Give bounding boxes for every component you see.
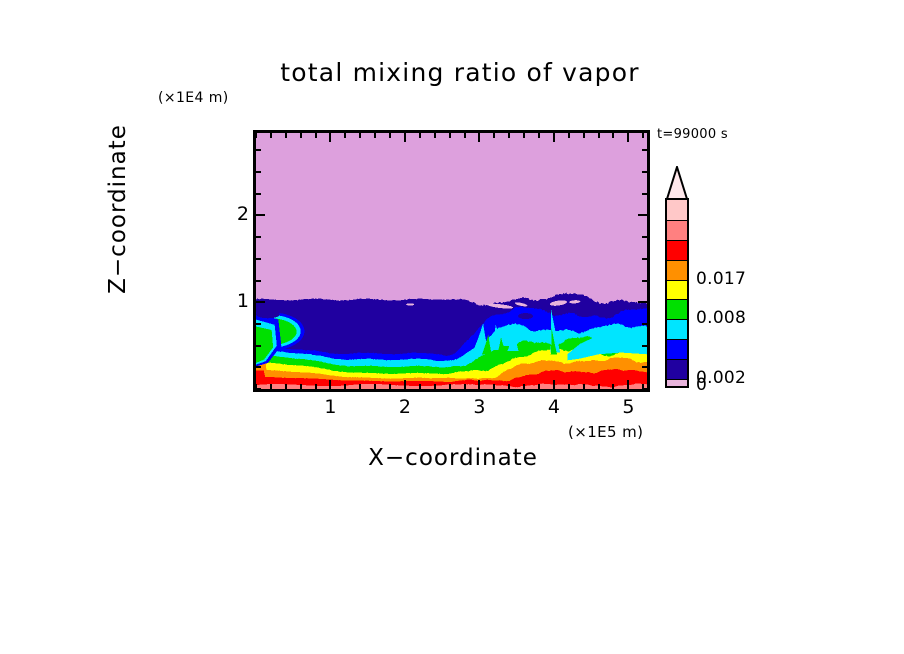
x-axis-tick-label: 1 [315,396,345,418]
x-axis-minor-tick [419,133,421,138]
x-axis-major-tick [553,380,555,389]
x-axis-minor-tick [344,384,346,389]
x-axis-minor-tick [359,384,361,389]
x-axis-minor-tick [464,384,466,389]
x-axis-major-tick [404,380,406,389]
x-axis-minor-tick [315,384,317,389]
x-axis-minor-tick [523,384,525,389]
x-axis-major-tick [627,380,629,389]
y-axis-minor-tick [642,280,647,282]
plot-area [253,130,650,392]
x-axis-major-tick [404,133,406,142]
y-axis-minor-tick [256,388,261,390]
x-axis-major-tick [329,380,331,389]
x-axis-minor-tick [538,384,540,389]
y-axis-title: Z−coordinate [105,84,131,334]
x-axis-minor-tick [612,133,614,138]
contour-blob-navy-1 [518,313,533,319]
x-axis-tick-label: 4 [539,396,569,418]
colorbar-gradient [665,198,689,388]
x-axis-minor-tick [583,133,585,138]
colorbar-tick-label: 0 [696,375,707,395]
y-axis-minor-tick [256,171,261,173]
x-axis-minor-tick [493,384,495,389]
x-axis-minor-tick [389,133,391,138]
x-axis-major-tick [329,133,331,142]
x-axis-minor-tick [568,133,570,138]
colorbar-tick-label: 0.008 [696,308,746,328]
y-axis-minor-tick [642,236,647,238]
x-axis-minor-tick [359,133,361,138]
x-axis-minor-tick [270,133,272,138]
colorbar-band [667,240,687,260]
x-axis-minor-tick [508,133,510,138]
x-axis-major-tick [478,380,480,389]
x-axis-minor-tick [449,133,451,138]
x-axis-major-tick [478,133,480,142]
colorbar-arrow-icon [665,166,689,200]
colorbar-tick-label: 0.017 [696,269,746,289]
x-axis-minor-tick [598,133,600,138]
x-axis-minor-tick [255,133,257,138]
colorbar-band [667,359,687,379]
y-axis-minor-tick [256,193,261,195]
colorbar-band [667,220,687,240]
contour-field [256,133,647,389]
colorbar-band [667,299,687,319]
y-axis-major-tick [256,214,265,216]
y-axis-major-tick [638,214,647,216]
x-axis-minor-tick [612,384,614,389]
y-axis-minor-tick [256,366,261,368]
x-axis-tick-label: 2 [390,396,420,418]
x-axis-minor-tick [583,384,585,389]
time-annotation: t=99000 s [657,127,728,142]
x-axis-unit-label: (×1E5 m) [568,423,643,441]
x-axis-minor-tick [344,133,346,138]
x-axis-minor-tick [568,384,570,389]
y-axis-unit-label: (×1E4 m) [158,90,229,106]
x-axis-minor-tick [642,133,644,138]
x-axis-title: X−coordinate [253,445,653,471]
y-axis-minor-tick [256,323,261,325]
y-axis-major-tick [256,301,265,303]
page-title: total mixing ratio of vapor [240,58,680,87]
y-axis-minor-tick [256,236,261,238]
x-axis-minor-tick [270,384,272,389]
colorbar-band [667,379,687,386]
colorbar-band [667,200,687,220]
y-axis-minor-tick [642,171,647,173]
x-axis-minor-tick [300,133,302,138]
x-axis-minor-tick [389,384,391,389]
y-axis-minor-tick [642,149,647,151]
x-axis-minor-tick [374,133,376,138]
contour-wisp-dry-5 [406,303,414,305]
colorbar-band [667,339,687,359]
colorbar [665,166,689,388]
colorbar-band [667,280,687,300]
y-axis-minor-tick [642,366,647,368]
x-axis-major-tick [627,133,629,142]
colorbar-band [667,319,687,339]
y-axis-minor-tick [642,345,647,347]
x-axis-minor-tick [315,133,317,138]
x-axis-minor-tick [523,133,525,138]
x-axis-minor-tick [449,384,451,389]
y-axis-minor-tick [256,149,261,151]
y-axis-tick-label: 2 [219,203,249,225]
y-axis-major-tick [638,301,647,303]
x-axis-minor-tick [374,384,376,389]
x-axis-tick-label: 5 [613,396,643,418]
x-axis-minor-tick [434,384,436,389]
x-axis-minor-tick [285,384,287,389]
y-axis-minor-tick [642,258,647,260]
contour-blob-navy-2 [576,312,594,317]
x-axis-tick-label: 3 [464,396,494,418]
y-axis-minor-tick [642,193,647,195]
x-axis-minor-tick [464,133,466,138]
x-axis-minor-tick [508,384,510,389]
y-axis-minor-tick [642,323,647,325]
x-axis-minor-tick [434,133,436,138]
y-axis-minor-tick [256,345,261,347]
contour-blob-navy-left [256,310,280,318]
x-axis-minor-tick [285,133,287,138]
y-axis-minor-tick [256,280,261,282]
x-axis-major-tick [553,133,555,142]
x-axis-minor-tick [538,133,540,138]
x-axis-minor-tick [300,384,302,389]
contour-plot-figure: total mixing ratio of vapor (×1E4 m) t=9… [0,0,904,654]
x-axis-minor-tick [598,384,600,389]
y-axis-minor-tick [256,258,261,260]
x-axis-minor-tick [419,384,421,389]
y-axis-tick-label: 1 [219,290,249,312]
y-axis-minor-tick [642,388,647,390]
x-axis-minor-tick [493,133,495,138]
colorbar-band [667,260,687,280]
